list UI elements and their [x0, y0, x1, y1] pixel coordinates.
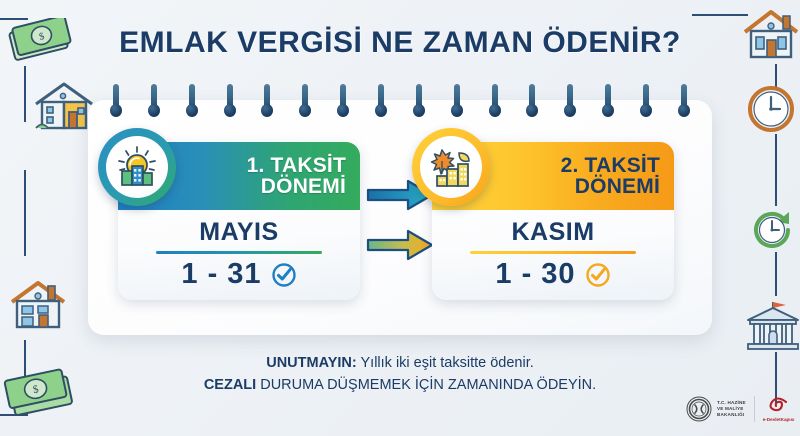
house-blue-icon [32, 78, 96, 136]
card-header-label: 1. TAKSİT DÖNEMİ [247, 155, 346, 198]
season-badge [98, 128, 176, 206]
footer-line-2-rest: DURUMA DÜŞMEMEK İÇİN ZAMANINDA ÖDEYİN. [256, 377, 596, 393]
ministry-logo-text: T.C. HAZİNE VE MALİYE BAKANLIĞI [717, 400, 746, 419]
card-month: MAYIS [118, 218, 360, 247]
season-badge [412, 128, 490, 206]
sun-buildings-icon [114, 144, 160, 190]
ministry-line-3: BAKANLIĞI [717, 412, 746, 418]
footer-line-1: UNUTMAYIN: Yıllık iki eşit taksitte öden… [0, 352, 800, 374]
clock-icon [746, 84, 796, 134]
footer-line-2-bold: CEZALI [204, 377, 256, 393]
page-title: EMLAK VERGİSİ NE ZAMAN ÖDENİR? [0, 26, 800, 60]
card-first-instalment: 1. TAKSİT DÖNEMİ MAYIS 1 - 31 [118, 142, 360, 300]
card-divider [156, 251, 322, 254]
autumn-leaf-buildings-icon [428, 144, 474, 190]
card-month: KASIM [432, 218, 674, 247]
card-header-line2: DÖNEMİ [247, 176, 346, 197]
arrow-right-icon [366, 228, 436, 262]
card-day-range: 1 - 30 [495, 258, 575, 291]
card-header-line1: 2. TAKSİT [561, 154, 660, 177]
season-badge-inner [106, 136, 168, 198]
clock-refresh-icon [748, 206, 796, 254]
rail-left-upper [24, 66, 26, 122]
house-orange-icon [8, 278, 70, 334]
card-header-label: 2. TAKSİT DÖNEMİ [561, 155, 660, 198]
rail-right-mid [775, 134, 777, 206]
check-circle-icon [271, 262, 297, 288]
season-badge-inner [420, 136, 482, 198]
ministry-line-1: T.C. HAZİNE [717, 400, 746, 406]
rail-right-top-horiz [692, 14, 748, 16]
footer-note: UNUTMAYIN: Yıllık iki eşit taksitte öden… [0, 352, 800, 397]
ministry-logo: T.C. HAZİNE VE MALİYE BAKANLIĞI [686, 396, 746, 422]
edevlet-swirl-icon [767, 396, 791, 416]
card-days-row: 1 - 30 [432, 258, 674, 291]
logo-divider [754, 396, 755, 422]
card-day-range: 1 - 31 [181, 258, 261, 291]
footer-line-2: CEZALI DURUMA DÜŞMEMEK İÇİN ZAMANINDA ÖD… [0, 374, 800, 396]
edevlet-logo-text: e-DevletKapısı [763, 417, 795, 422]
government-building-icon [742, 298, 800, 354]
infographic-root: $ $ [0, 0, 800, 436]
card-second-instalment: 2. TAKSİT DÖNEMİ KASIM 1 - 30 [432, 142, 674, 300]
card-header-line1: 1. TAKSİT [247, 154, 346, 177]
logo-bar: T.C. HAZİNE VE MALİYE BAKANLIĞI e-Devlet… [686, 396, 794, 422]
card-days-row: 1 - 31 [118, 258, 360, 291]
edevlet-logo: e-DevletKapısı [763, 396, 795, 422]
check-circle-icon [585, 262, 611, 288]
card-divider [470, 251, 636, 254]
ministry-seal-icon [686, 396, 712, 422]
rail-right-lower [775, 252, 777, 296]
card-header-line2: DÖNEMİ [561, 176, 660, 197]
footer-line-1-bold: UNUTMAYIN: [266, 355, 357, 371]
rail-left-mid [24, 170, 26, 256]
footer-line-1-rest: Yıllık iki eşit taksitte ödenir. [357, 355, 534, 371]
